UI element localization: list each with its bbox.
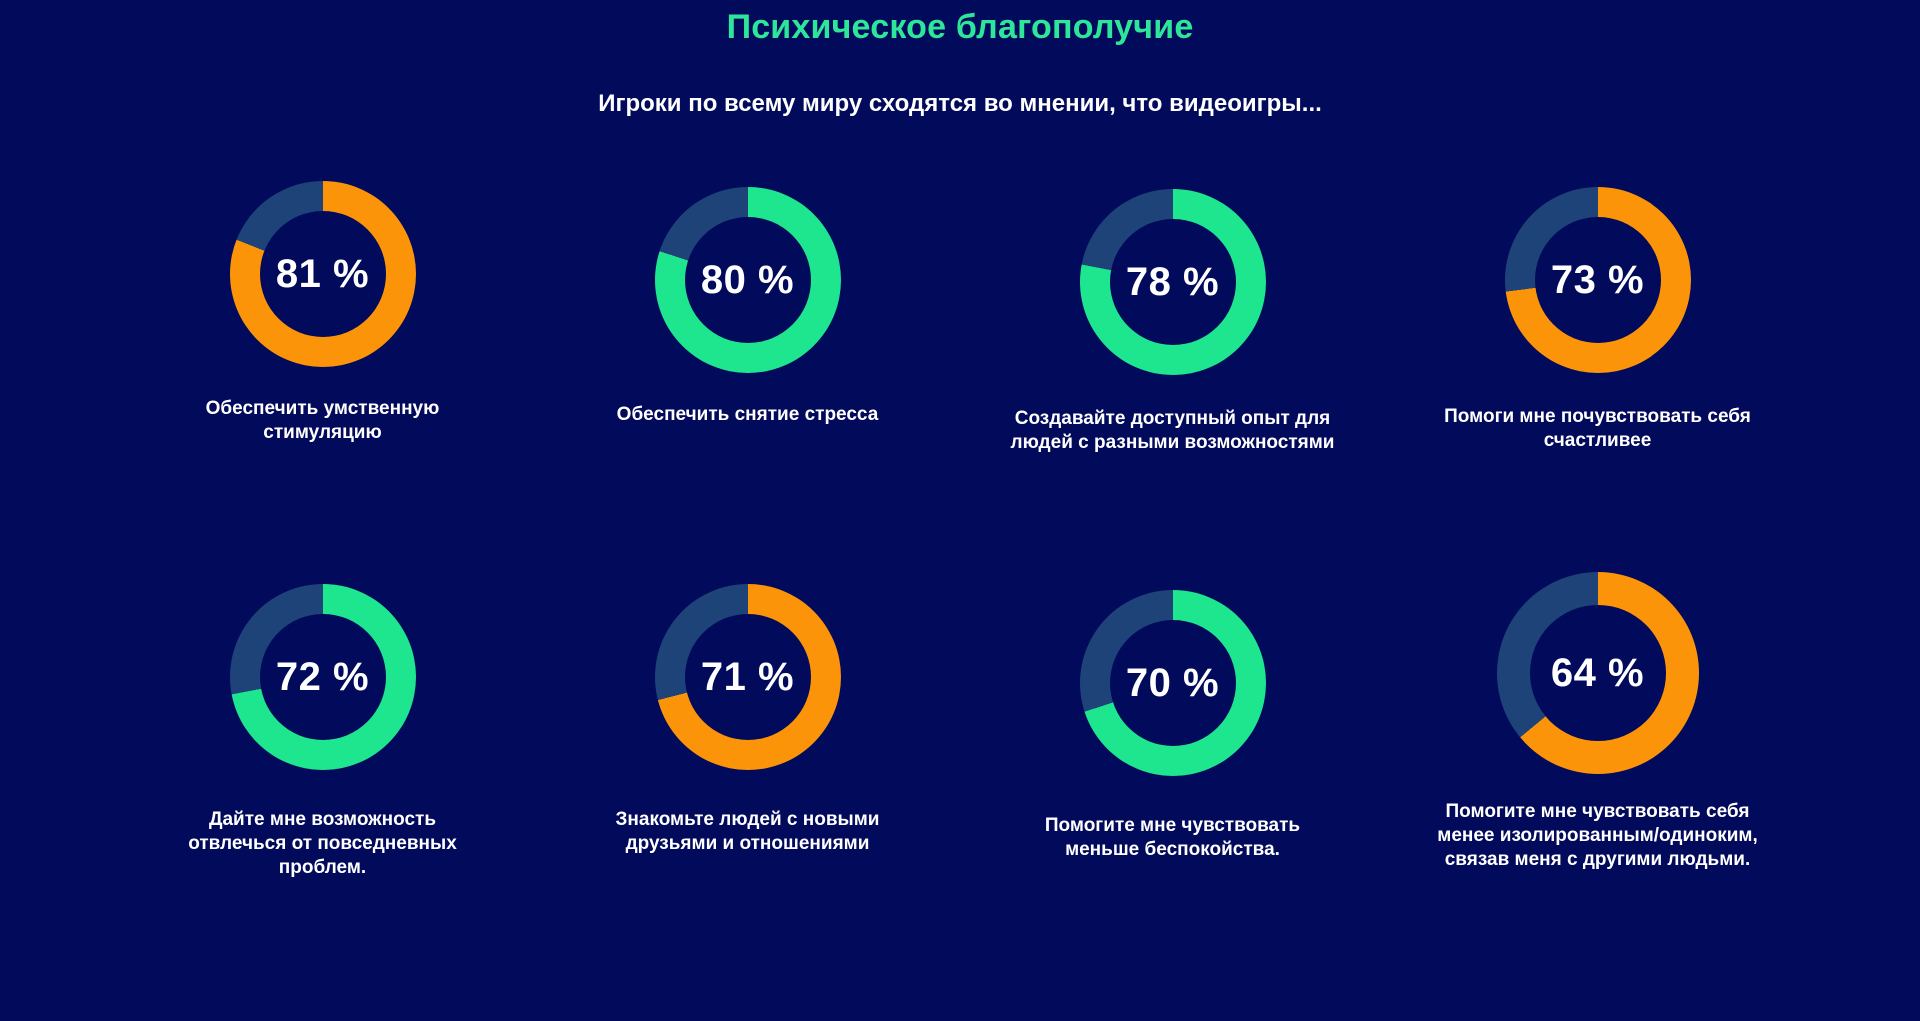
donut-ring-2: 80 % — [655, 187, 841, 373]
donut-chart-5: 72 % — [230, 584, 416, 770]
donut-center-8: 64 % — [1530, 605, 1666, 741]
donut-label-5: Дайте мне возможность отвлечься от повсе… — [158, 808, 488, 879]
donut-chart-8: 64 % — [1497, 572, 1699, 774]
donut-center-7: 70 % — [1110, 620, 1236, 746]
donut-card-8: 64 % Помогите мне чувствовать себя менее… — [1385, 580, 1810, 985]
infographic-root: Психическое благополучие Игроки по всему… — [0, 0, 1920, 1021]
donut-ring-6: 71 % — [655, 584, 841, 770]
donut-card-6: 71 % Знакомьте людей с новыми друзьями и… — [535, 580, 960, 985]
donut-value-1: 81 % — [276, 252, 369, 297]
donut-value-7: 70 % — [1126, 661, 1219, 706]
donut-ring-5: 72 % — [230, 584, 416, 770]
page-subtitle: Игроки по всему миру сходятся во мнении,… — [0, 90, 1920, 118]
donut-ring-1: 81 % — [230, 181, 416, 367]
donut-label-3: Создавайте доступный опыт для людей с ра… — [1008, 407, 1338, 455]
donut-value-3: 78 % — [1126, 260, 1219, 305]
donut-label-7: Помогите мне чувствовать меньше беспокой… — [1008, 814, 1338, 862]
donut-value-8: 64 % — [1551, 651, 1644, 696]
donut-chart-6: 71 % — [655, 584, 841, 770]
donut-grid: 81 % Обеспечить умственную стимуляцию 80… — [110, 175, 1810, 985]
donut-chart-4: 73 % — [1505, 187, 1691, 373]
donut-center-2: 80 % — [685, 217, 811, 343]
donut-chart-3: 78 % — [1080, 189, 1266, 375]
donut-ring-3: 78 % — [1080, 189, 1266, 375]
donut-card-2: 80 % Обеспечить снятие стресса — [535, 175, 960, 580]
donut-label-4: Помоги мне почувствовать себя счастливее — [1433, 405, 1763, 453]
donut-card-7: 70 % Помогите мне чувствовать меньше бес… — [960, 580, 1385, 985]
donut-label-1: Обеспечить умственную стимуляцию — [158, 397, 488, 445]
donut-label-8: Помогите мне чувствовать себя менее изол… — [1433, 800, 1763, 871]
donut-value-4: 73 % — [1551, 258, 1644, 303]
donut-center-1: 81 % — [260, 211, 386, 337]
donut-value-2: 80 % — [701, 258, 794, 303]
donut-value-5: 72 % — [276, 655, 369, 700]
donut-center-5: 72 % — [260, 614, 386, 740]
donut-chart-7: 70 % — [1080, 590, 1266, 776]
donut-label-2: Обеспечить снятие стресса — [583, 403, 913, 427]
donut-center-3: 78 % — [1110, 219, 1236, 345]
donut-label-6: Знакомьте людей с новыми друзьями и отно… — [583, 808, 913, 856]
donut-ring-7: 70 % — [1080, 590, 1266, 776]
donut-center-6: 71 % — [685, 614, 811, 740]
donut-chart-1: 81 % — [230, 181, 416, 367]
donut-chart-2: 80 % — [655, 187, 841, 373]
donut-center-4: 73 % — [1535, 217, 1661, 343]
donut-card-4: 73 % Помоги мне почувствовать себя счаст… — [1385, 175, 1810, 580]
donut-card-3: 78 % Создавайте доступный опыт для людей… — [960, 175, 1385, 580]
donut-card-5: 72 % Дайте мне возможность отвлечься от … — [110, 580, 535, 985]
donut-value-6: 71 % — [701, 655, 794, 700]
donut-card-1: 81 % Обеспечить умственную стимуляцию — [110, 175, 535, 580]
donut-ring-4: 73 % — [1505, 187, 1691, 373]
page-title: Психическое благополучие — [0, 8, 1920, 47]
donut-ring-8: 64 % — [1497, 572, 1699, 774]
